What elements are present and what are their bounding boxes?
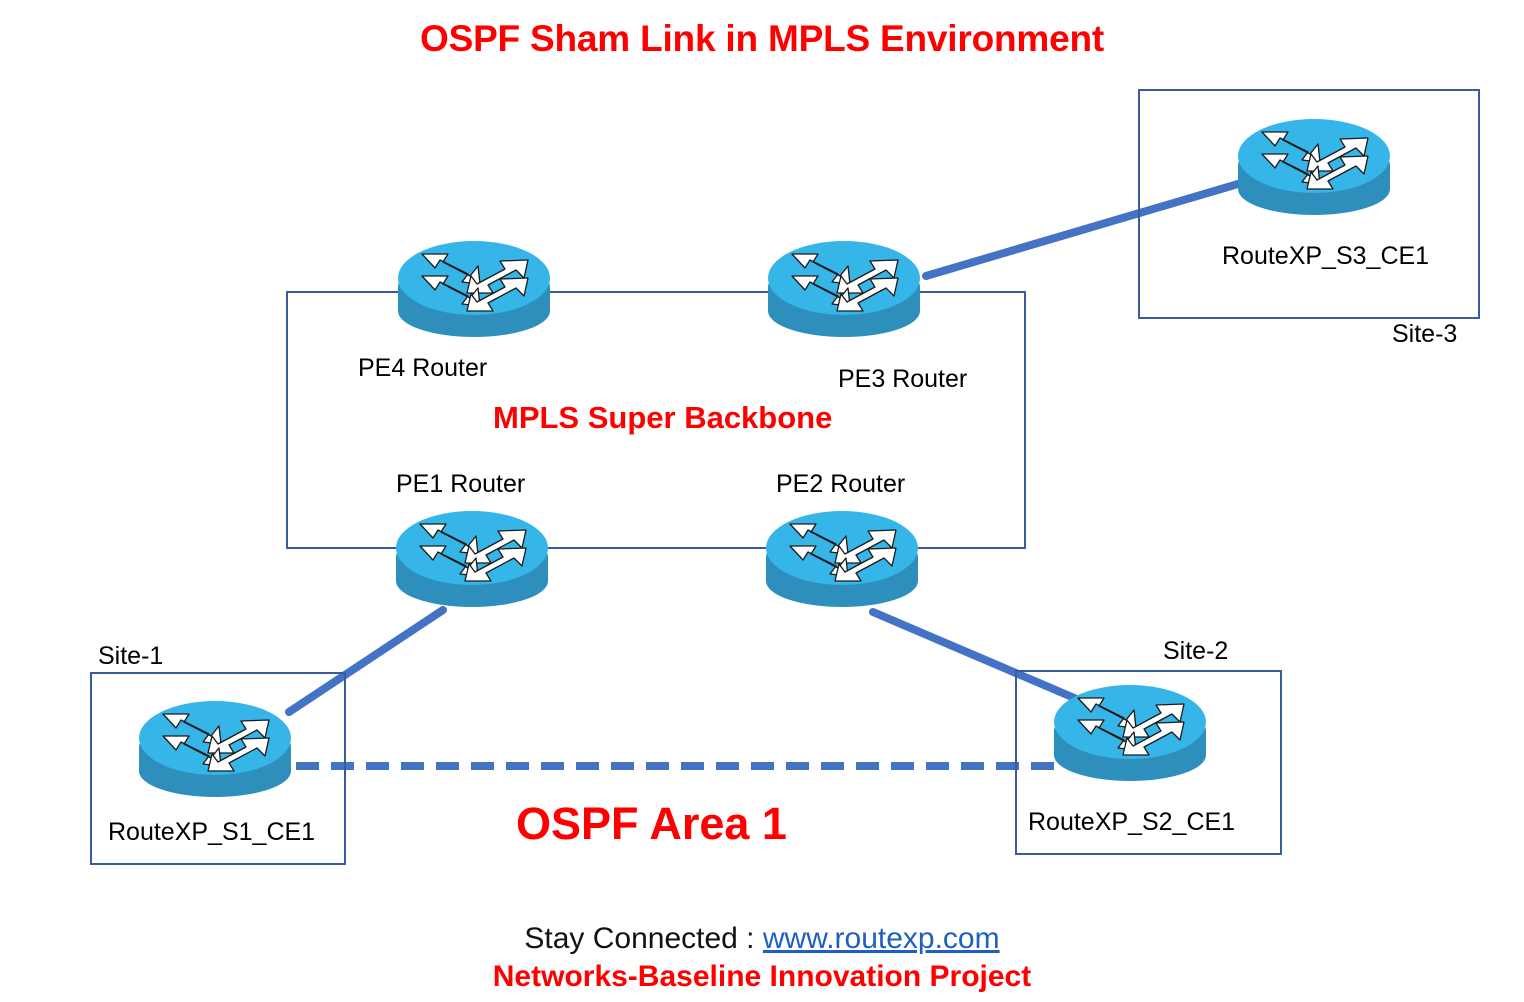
site1-label: Site-1 — [98, 642, 163, 671]
router-pe2-label: PE2 Router — [776, 470, 905, 499]
diagram-canvas: OSPF Sham Link in MPLS Environment MPLS … — [0, 0, 1524, 1002]
router-icon — [760, 502, 924, 612]
router-icon — [762, 232, 926, 342]
router-site1-ce1-label: RouteXP_S1_CE1 — [108, 818, 315, 847]
router-icon — [133, 692, 297, 802]
router-pe1-label: PE1 Router — [396, 470, 525, 499]
router-pe1[interactable] — [390, 502, 554, 612]
footer-stay-connected: Stay Connected : www.routexp.com — [0, 922, 1524, 956]
router-site2-ce1[interactable] — [1048, 676, 1212, 786]
router-pe3[interactable] — [762, 232, 926, 342]
router-icon — [1232, 110, 1396, 220]
router-pe4-label: PE4 Router — [358, 354, 487, 383]
router-site1-ce1[interactable] — [133, 692, 297, 802]
router-site3-ce1[interactable] — [1232, 110, 1396, 220]
site3-label: Site-3 — [1392, 320, 1457, 349]
router-pe3-label: PE3 Router — [838, 365, 967, 394]
mpls-backbone-label: MPLS Super Backbone — [493, 400, 832, 436]
page-title: OSPF Sham Link in MPLS Environment — [0, 18, 1524, 60]
router-site3-ce1-label: RouteXP_S3_CE1 — [1222, 242, 1429, 271]
router-pe2[interactable] — [760, 502, 924, 612]
footer-stay-connected-text: Stay Connected : — [524, 922, 762, 955]
router-icon — [392, 232, 556, 342]
router-icon — [1048, 676, 1212, 786]
router-site2-ce1-label: RouteXP_S2_CE1 — [1028, 808, 1235, 837]
ospf-area-label: OSPF Area 1 — [516, 798, 787, 850]
router-icon — [390, 502, 554, 612]
site2-label: Site-2 — [1163, 637, 1228, 666]
footer-tagline: Networks-Baseline Innovation Project — [0, 960, 1524, 994]
footer-website-link[interactable]: www.routexp.com — [763, 922, 1000, 955]
router-pe4[interactable] — [392, 232, 556, 342]
